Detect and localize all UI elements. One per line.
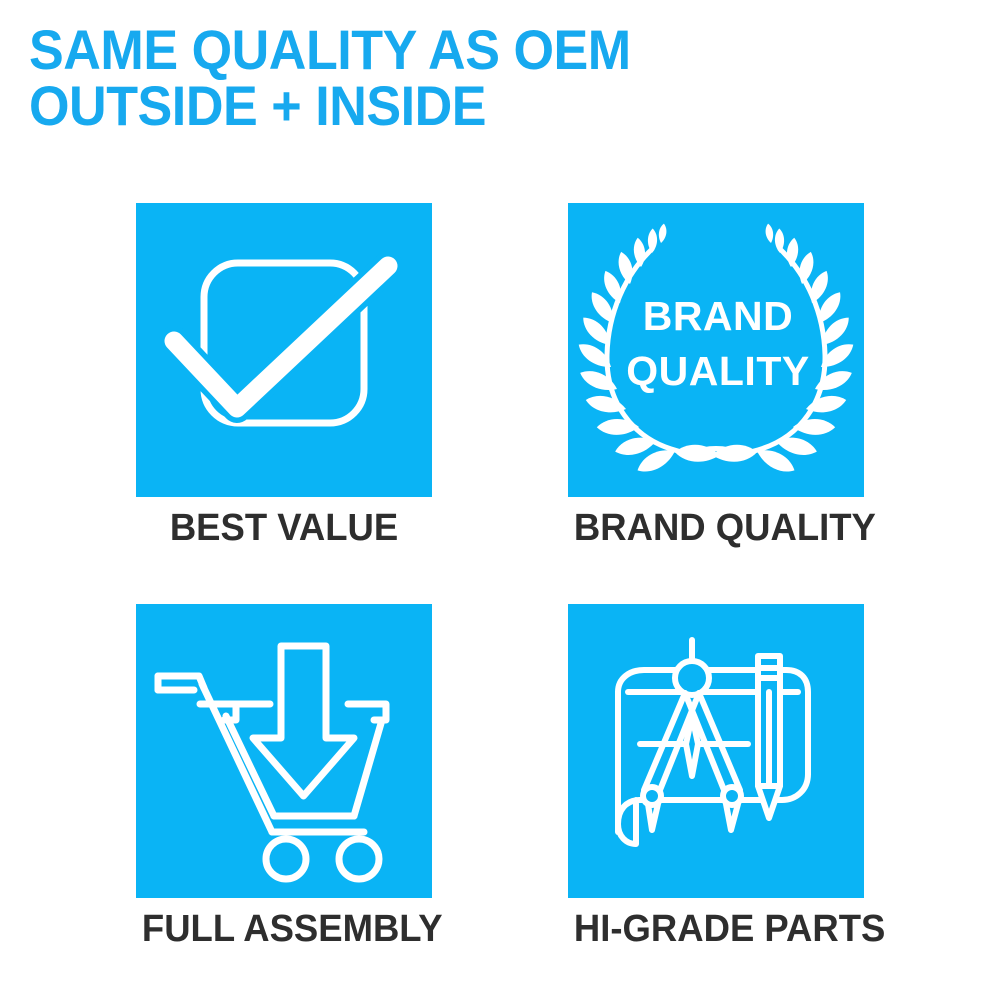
feature-tile-best-value xyxy=(136,203,432,497)
checkbox-check-icon xyxy=(136,203,432,497)
headline-line-1: SAME QUALITY AS OEM xyxy=(29,22,894,78)
feature-label-full-assembly: FULL ASSEMBLY xyxy=(142,907,426,951)
feature-label-hi-grade-parts: HI-GRADE PARTS xyxy=(574,907,858,951)
blueprint-compass-pencil-icon xyxy=(568,604,864,898)
wreath-text-quality: QUALITY xyxy=(626,348,809,394)
shopping-cart-download-icon xyxy=(136,604,432,898)
headline-line-2: OUTSIDE + INSIDE xyxy=(29,78,894,134)
feature-full-assembly[interactable]: FULL ASSEMBLY xyxy=(136,604,432,951)
page-title: SAME QUALITY AS OEM OUTSIDE + INSIDE xyxy=(29,22,894,134)
laurel-wreath-icon: BRAND QUALITY xyxy=(568,203,864,497)
feature-best-value[interactable]: BEST VALUE xyxy=(136,203,432,550)
feature-tile-full-assembly xyxy=(136,604,432,898)
wreath-text-brand: BRAND xyxy=(643,293,794,339)
feature-tile-hi-grade-parts xyxy=(568,604,864,898)
infographic-page: SAME QUALITY AS OEM OUTSIDE + INSIDE BES… xyxy=(0,0,1000,1000)
feature-tile-brand-quality: BRAND QUALITY xyxy=(568,203,864,497)
feature-label-brand-quality: BRAND QUALITY xyxy=(574,506,858,550)
feature-label-best-value: BEST VALUE xyxy=(142,506,426,550)
feature-hi-grade-parts[interactable]: HI-GRADE PARTS xyxy=(568,604,864,951)
feature-brand-quality[interactable]: BRAND QUALITY BRAND QUALITY xyxy=(568,203,864,550)
